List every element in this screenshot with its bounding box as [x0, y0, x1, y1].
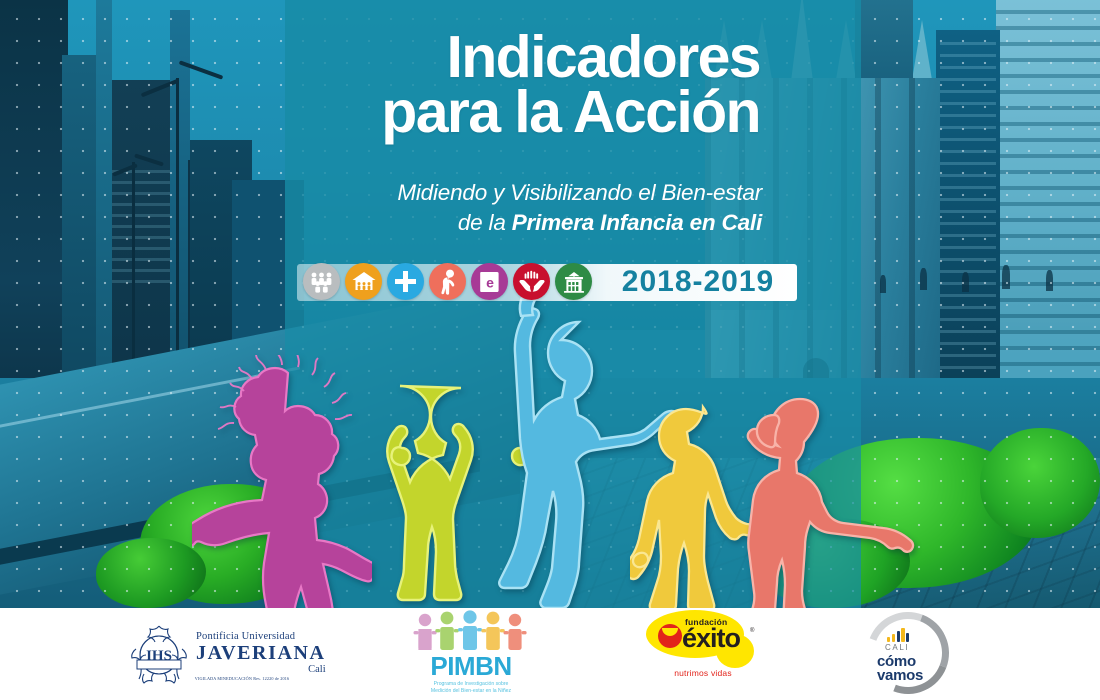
subtitle-line-1: Midiendo y Visibilizando el Bien-estar — [397, 180, 762, 205]
javeriana-crest-icon: IHS — [130, 622, 188, 684]
child-magenta — [192, 355, 372, 610]
ccv-bar-chart-icon — [887, 628, 909, 642]
page-title: Indicadores para la Acción — [360, 30, 760, 141]
ccv-bar — [892, 634, 895, 642]
institutions-icon[interactable] — [555, 263, 592, 300]
logo-javeriana[interactable]: IHS Pontificia Universidad JAVERIANA Cal… — [130, 608, 330, 700]
ccv-bar — [906, 633, 909, 642]
pimbn-tagline-line-1: Programa de Investigación sobre — [408, 681, 534, 688]
logo-fundacion-exito[interactable]: fundación éxito ® nutrimos vidas — [638, 608, 768, 700]
exito-mark: fundación éxito ® — [638, 608, 768, 670]
javeriana-line-3: Cali — [196, 664, 326, 675]
exito-smile-icon — [658, 624, 682, 648]
pimbn-children-figures — [408, 608, 534, 652]
ccv-cali-label: CALI — [885, 643, 909, 652]
subtitle-line-2: de la Primera Infancia en Cali — [330, 208, 762, 238]
nutrition-icon[interactable] — [429, 263, 466, 300]
pimbn-tagline-line-2: Medición del Bien-estar en la Niñez — [408, 688, 534, 695]
ccv-bar — [897, 631, 900, 642]
child-gold — [630, 403, 758, 611]
child-coral — [742, 393, 942, 611]
exito-wordmark: éxito — [682, 623, 740, 654]
page-subtitle: Midiendo y Visibilizando el Bien-estar d… — [330, 178, 762, 237]
demographics-icon[interactable] — [303, 263, 340, 300]
svg-text:e: e — [486, 274, 494, 290]
publication-cover: Indicadores para la Acción Midiendo y Vi… — [0, 0, 1100, 700]
health-icon[interactable] — [387, 263, 424, 300]
year-range-badge: 2018-2019 — [600, 263, 796, 301]
javeriana-line-1: Pontificia Universidad — [196, 631, 326, 642]
title-line-2: para la Acción — [360, 85, 760, 140]
logo-cali-como-vamos[interactable]: CALI cómo vamos — [855, 608, 975, 700]
javeriana-crest-monogram: IHS — [146, 648, 172, 664]
logo-pimbn[interactable]: PIMBN Programa de Investigación sobre Me… — [408, 608, 534, 700]
exito-registered-mark: ® — [750, 628, 754, 634]
protection-icon[interactable] — [513, 263, 550, 300]
ccv-bar — [887, 637, 890, 642]
subtitle-line-2-prefix: de la — [458, 210, 512, 235]
ccv-vamos-label: vamos — [877, 667, 923, 684]
sponsor-footer: IHS Pontificia Universidad JAVERIANA Cal… — [0, 608, 1100, 700]
education-icon[interactable]: e — [471, 263, 508, 300]
subtitle-line-2-emphasis: Primera Infancia en Cali — [512, 210, 762, 235]
ccv-bar — [901, 628, 904, 642]
pimbn-acronym: PIMBN — [408, 653, 534, 679]
javeriana-legal-notice: VIGILADA MINEDUCACIÓN Res. 12220 de 2016 — [152, 676, 332, 681]
javeriana-line-2: JAVERIANA — [196, 643, 326, 664]
pimbn-figures-icon — [412, 608, 530, 652]
housing-icon[interactable] — [345, 263, 382, 300]
pimbn-tagline: Programa de Investigación sobre Medición… — [408, 681, 534, 696]
topic-icon-row: e — [303, 263, 592, 300]
